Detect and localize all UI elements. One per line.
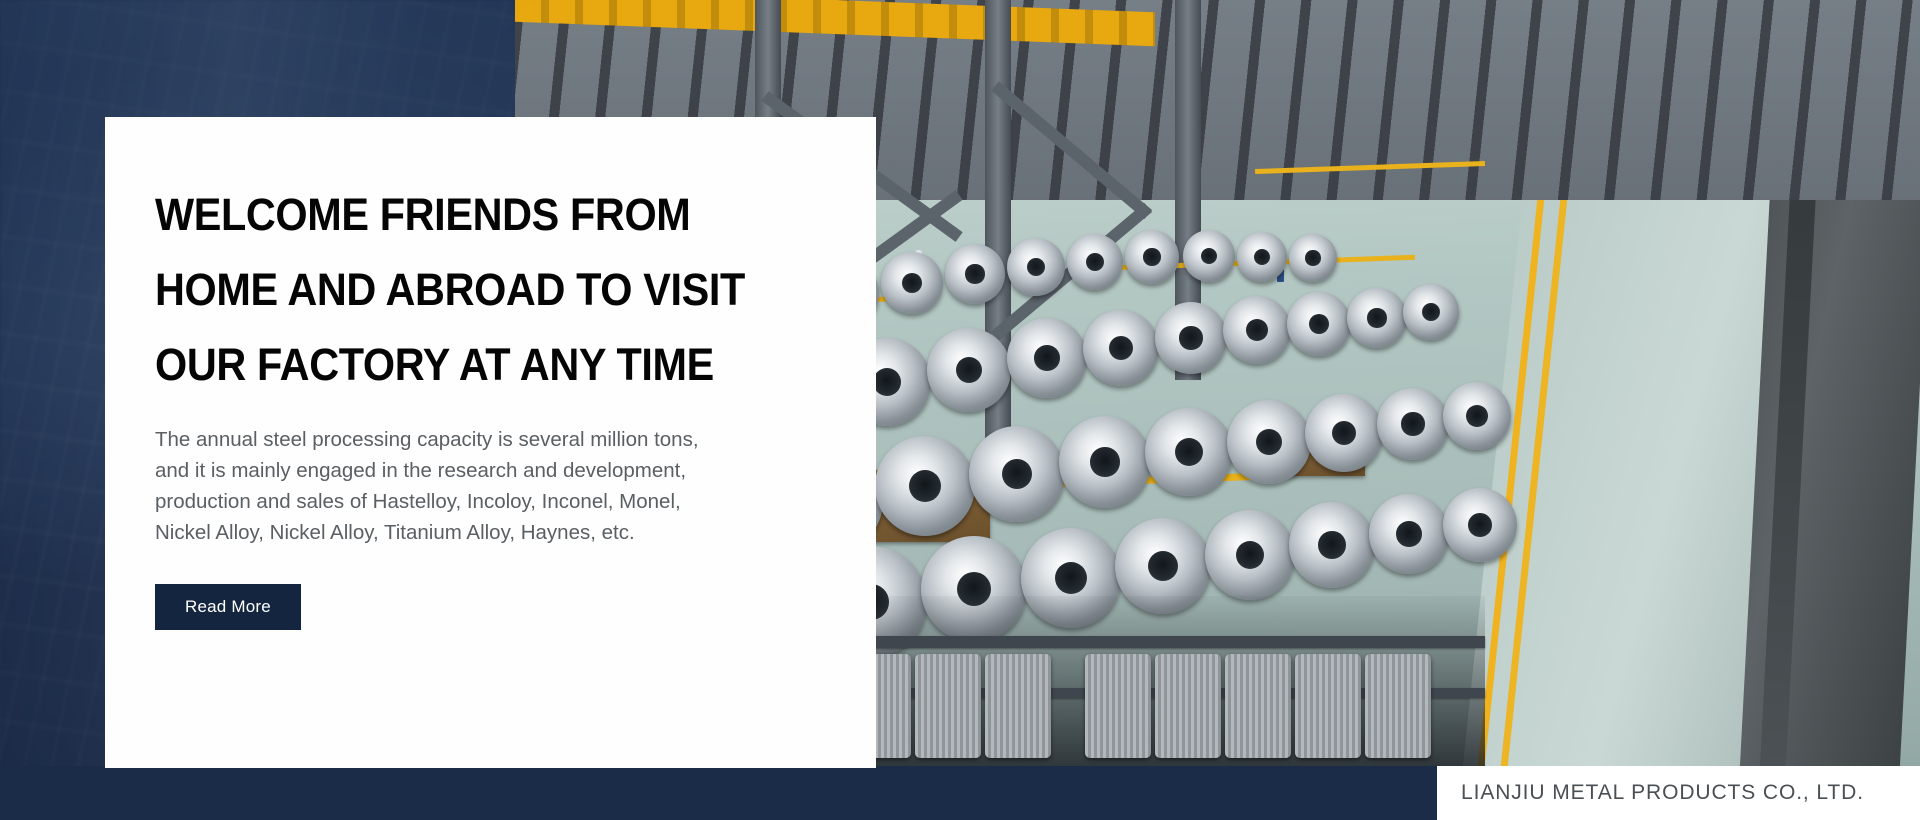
hero-description: The annual steel processing capacity is … [155, 424, 715, 548]
page-title: WELCOME FRIENDS FROM HOME AND ABROAD TO … [155, 177, 750, 402]
company-name-text: LIANJIU METAL PRODUCTS CO., LTD. [1461, 781, 1864, 805]
read-more-button[interactable]: Read More [155, 584, 301, 630]
hero-content-inner: WELCOME FRIENDS FROM HOME AND ABROAD TO … [155, 177, 802, 630]
company-name-bar: LIANJIU METAL PRODUCTS CO., LTD. [1437, 766, 1920, 820]
hero-content-card: WELCOME FRIENDS FROM HOME AND ABROAD TO … [105, 117, 876, 768]
hero-banner: WELCOME FRIENDS FROM HOME AND ABROAD TO … [0, 0, 1920, 820]
